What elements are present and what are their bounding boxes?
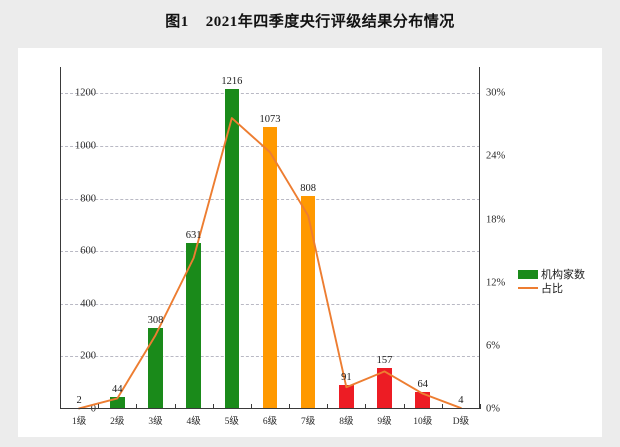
x-axis-tick-label: 8级 [339, 413, 353, 427]
x-axis-tick-label: 7级 [301, 413, 315, 427]
y-axis-right-tick-label: 24% [486, 151, 505, 162]
chart-card: 020040060080010001200 0%6%12%18%24%30% 2… [18, 48, 602, 437]
legend-line-swatch-icon [518, 287, 538, 289]
bar-value-label: 44 [112, 384, 123, 395]
x-axis-line [60, 408, 480, 409]
bar-value-label: 308 [148, 315, 164, 326]
plot-area: 020040060080010001200 0%6%12%18%24%30% 2… [60, 67, 480, 409]
bar-value-label: 1073 [260, 114, 281, 125]
legend-item-line: 占比 [518, 281, 585, 295]
bar-value-label: 631 [186, 230, 202, 241]
legend-bar-swatch-icon [518, 270, 538, 279]
x-axis-tick-label: 6级 [263, 413, 277, 427]
x-axis-tick-label: 4级 [186, 413, 200, 427]
y-axis-right-tick-label: 30% [486, 88, 505, 99]
x-axis-tick [480, 404, 481, 409]
x-axis-tick-label: 9级 [377, 413, 391, 427]
y-axis-right-tick-label: 6% [486, 340, 500, 351]
y-axis-left-line [60, 67, 61, 409]
figure-title: 图1 2021年四季度央行评级结果分布情况 [0, 10, 620, 31]
y-axis-right-tick-label: 18% [486, 214, 505, 225]
x-axis-tick-label: 5级 [225, 413, 239, 427]
x-axis-tick-label: 1级 [72, 413, 86, 427]
y-axis-right-labels: 0%6%12%18%24%30% [480, 67, 526, 409]
percentage-line [79, 118, 461, 408]
x-axis-tick-label: 3级 [148, 413, 162, 427]
legend-line-label: 占比 [541, 280, 563, 296]
bar-value-label: 808 [300, 183, 316, 194]
bar-value-label: 1216 [221, 76, 242, 87]
bar-value-label: 91 [341, 372, 352, 383]
y-axis-right-tick-label: 12% [486, 277, 505, 288]
y-axis-right-tick-label: 0% [486, 404, 500, 415]
x-axis-tick-label: 2级 [110, 413, 124, 427]
legend-item-bar: 机构家数 [518, 267, 585, 281]
bar-value-label: 2 [76, 395, 81, 406]
bar-value-label: 64 [417, 379, 428, 390]
chart-page: 图1 2021年四季度央行评级结果分布情况 020040060080010001… [0, 0, 620, 447]
bar-value-label: 4 [458, 395, 463, 406]
legend: 机构家数 占比 [518, 267, 585, 295]
x-axis-tick-label: D级 [453, 413, 469, 427]
y-axis-right-line [479, 67, 480, 409]
bar-value-label: 157 [377, 355, 393, 366]
x-axis-tick-label: 10级 [413, 413, 432, 427]
